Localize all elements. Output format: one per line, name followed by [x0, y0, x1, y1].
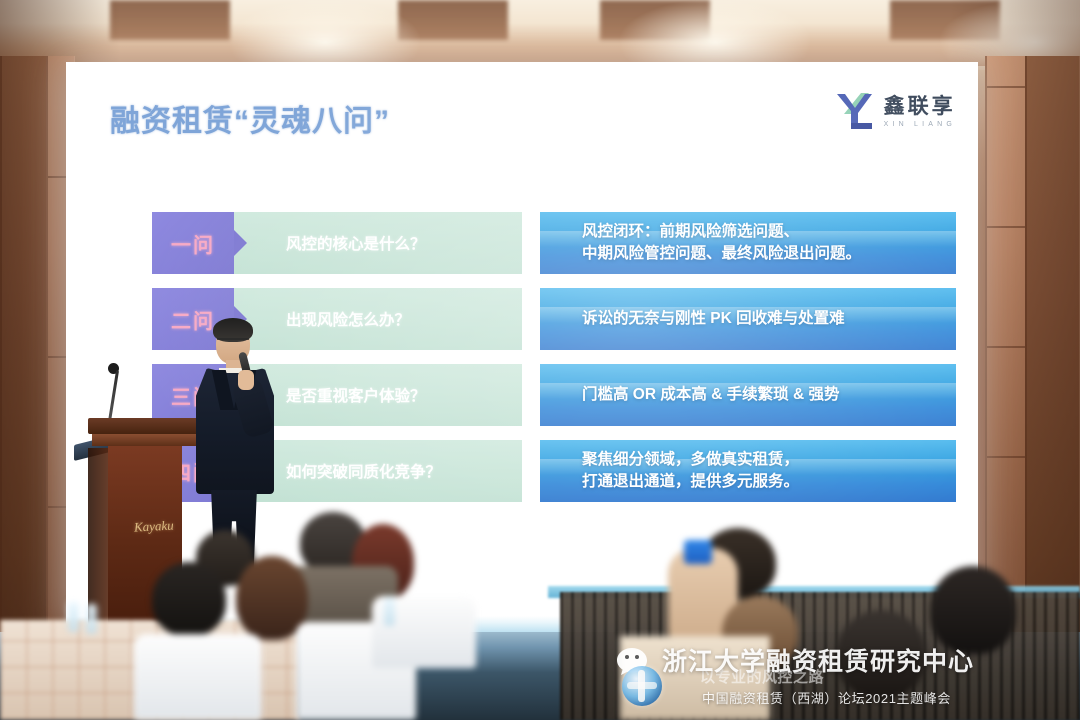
ceiling-light [620, 0, 810, 70]
answer-text: 聚焦细分领域，多做真实租赁， 打通退出通道，提供多元服务。 [582, 449, 799, 494]
question-text: 风控的核心是什么？ [234, 212, 522, 274]
conference-photo: 融资租赁“灵魂八问” 鑫联享 XIN LIANG 一问 风控的核心是什么？ [0, 0, 1080, 720]
answer-block: 聚焦细分领域，多做真实租赁， 打通退出通道，提供多元服务。 [540, 440, 956, 502]
brand-name-cn: 鑫联享 [884, 96, 956, 117]
ceiling-beam [110, 0, 230, 40]
audience-head [930, 566, 1016, 654]
qa-row: 一问 风控的核心是什么？ 风控闭环：前期风险筛选问题、 中期风险管控问题、最终风… [152, 212, 956, 274]
glasses-icon [217, 338, 249, 347]
answer-block: 诉讼的无奈与刚性 PK 回收难与处置难 [540, 288, 956, 350]
audience-seat [134, 634, 262, 720]
audience-shoulder [620, 636, 770, 720]
question-number: 一问 [152, 212, 234, 274]
answer-block: 风控闭环：前期风险筛选问题、 中期风险管控问题、最终风险退出问题。 [540, 212, 956, 274]
water-bottle [384, 596, 395, 626]
question-block: 一问 风控的核心是什么？ [152, 212, 522, 274]
water-bottle [86, 604, 97, 634]
ceiling-light [230, 0, 420, 70]
podium-lip [92, 434, 200, 446]
slide-title: 融资租赁“灵魂八问” [110, 96, 390, 140]
smartphone-screen [684, 540, 712, 564]
answer-block: 门槛高 OR 成本高 & 手续繁琐 & 强势 [540, 364, 956, 426]
audience-head [152, 562, 226, 636]
water-bottle [68, 602, 79, 632]
audience-head [836, 610, 926, 698]
speaker-hand [238, 370, 254, 390]
company-logo: 鑫联享 XIN LIANG [831, 90, 956, 134]
brand-name-en: XIN LIANG [884, 121, 956, 128]
answer-text: 门槛高 OR 成本高 & 手续繁琐 & 强势 [582, 384, 839, 406]
xl-monogram-icon [831, 90, 875, 134]
answer-text: 风控闭环：前期风险筛选问题、 中期风险管控问题、最终风险退出问题。 [582, 221, 861, 266]
answer-text: 诉讼的无奈与刚性 PK 回收难与处置难 [582, 308, 845, 330]
